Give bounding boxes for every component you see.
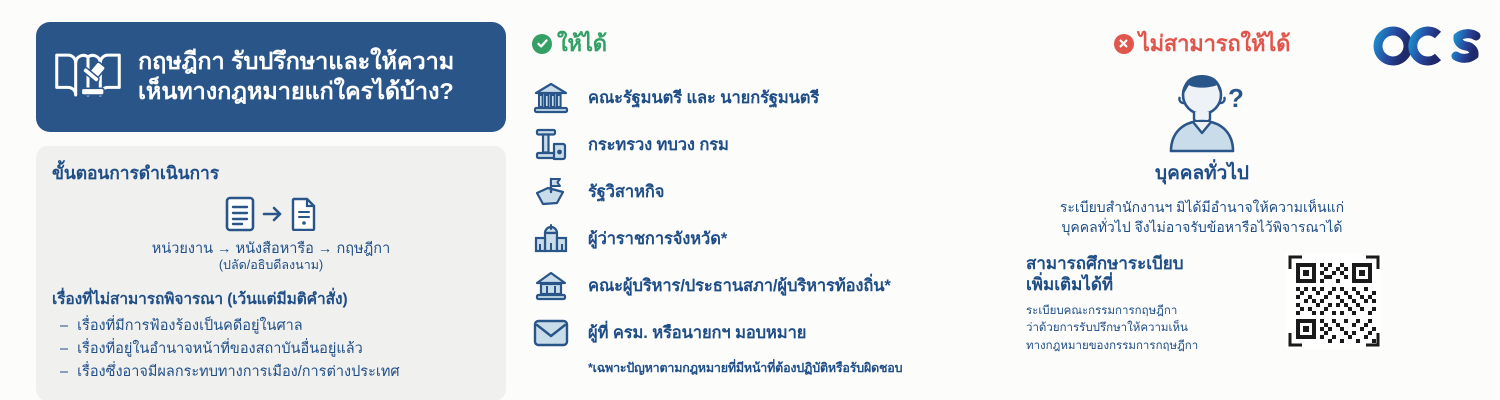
study-more-text: สามารถศึกษาระเบียบ เพิ่มเติมได้ที่ ระเบี… <box>1022 253 1272 355</box>
arrow-right-icon <box>262 205 284 228</box>
cannot-desc-line2: บุคคลทั่วไป จึงไม่อาจรับข้อหารือไว้พิจาร… <box>1022 217 1382 237</box>
cannot-desc-line1: ระเบียบสำนักงานฯ มิได้มีอำนาจให้ความเห็น… <box>1022 197 1382 217</box>
header-banner: กฤษฎีกา รับปรึกษาและให้ความ เห็นทางกฎหมา… <box>36 22 506 132</box>
list-item: – เรื่องที่อยู่ในอำนาจหน้าที่ของสถาบันอื… <box>52 338 490 361</box>
list-item: – เรื่องซึ่งอาจมีผลกระทบทางการเมือง/การต… <box>52 361 490 384</box>
book-gavel-icon <box>52 45 124 107</box>
study-sub-line2: ว่าด้วยการรับปรึกษาให้ความเห็น <box>1026 320 1272 337</box>
study-sub-line1: ระเบียบคณะกรรมการกฤษฎีกา <box>1026 303 1272 320</box>
exclusions-title: เรื่องที่ไม่สามารถพิจารณา (เว้นแต่มีมติค… <box>52 286 490 311</box>
local-government-icon <box>532 268 570 304</box>
person-caption: บุคคลทั่วไป <box>1022 158 1382 188</box>
process-flow-caption-sub: (ปลัด/อธิบดีลงนาม) <box>52 258 490 274</box>
can-provide-column: ให้ได้ คณะรัฐมนตรี แล <box>532 26 1032 378</box>
x-circle-icon <box>1114 34 1134 54</box>
document-signed-icon <box>291 197 317 236</box>
cannot-provide-description: ระเบียบสำนักงานฯ มิได้มีอำนาจให้ความเห็น… <box>1022 197 1382 238</box>
ocs-logo <box>1372 25 1482 67</box>
header-title: กฤษฎีกา รับปรึกษาและให้ความ เห็นทางกฎหมา… <box>138 46 454 106</box>
list-item: ผู้ว่าราชการจังหวัด* <box>532 215 1032 262</box>
can-provide-label: ให้ได้ <box>557 26 607 61</box>
header-title-line1: กฤษฎีกา รับปรึกษาและให้ความ <box>138 48 454 74</box>
exclusion-label: เรื่องซึ่งอาจมีผลกระทบทางการเมือง/การต่า… <box>77 361 400 384</box>
study-title-line2: เพิ่มเติมได้ที่ <box>1026 274 1272 295</box>
study-sub-line3: ทางกฎหมายของกรรมการกฤษฎีกา <box>1026 338 1272 355</box>
can-provide-item-label: ผู้ว่าราชการจังหวัด* <box>588 226 727 252</box>
process-flow-icons <box>52 196 490 237</box>
can-provide-item-label: ผู้ที่ ครม. หรือนายกฯ มอบหมาย <box>588 320 806 346</box>
svg-text:?: ? <box>1228 83 1244 113</box>
study-more-subtitle: ระเบียบคณะกรรมการกฤษฎีกา ว่าด้วยการรับปร… <box>1026 303 1272 355</box>
list-item: คณะผู้บริหาร/ประธานสภา/ผู้บริหารท้องถิ่น… <box>532 262 1032 309</box>
bullet-dash: – <box>60 315 68 338</box>
person-question-icon: ? <box>1022 67 1382 155</box>
steps-panel-title: ขั้นตอนการดำเนินการ <box>52 159 490 187</box>
list-item: กระทรวง ทบวง กรม <box>532 121 1032 168</box>
can-provide-list: คณะรัฐมนตรี และ นายกรัฐมนตรี กระทรวง ทบว… <box>532 74 1032 356</box>
cannot-provide-heading: ไม่สามารถให้ได้ <box>1022 26 1382 61</box>
qr-code-icon[interactable] <box>1286 253 1382 349</box>
check-circle-icon <box>532 34 552 54</box>
document-lines-icon <box>225 196 255 237</box>
ministry-pillar-icon <box>532 127 570 163</box>
flag-land-icon <box>532 174 570 210</box>
bullet-dash: – <box>60 361 68 384</box>
provincial-hall-icon <box>532 221 570 257</box>
list-item: – เรื่องที่มีการฟ้องร้องเป็นคดีอยู่ในศาล <box>52 315 490 338</box>
envelope-icon <box>532 315 570 351</box>
infographic-canvas: กฤษฎีกา รับปรึกษาและให้ความ เห็นทางกฎหมา… <box>0 0 1500 400</box>
list-item: คณะรัฐมนตรี และ นายกรัฐมนตรี <box>532 74 1032 121</box>
study-more-title: สามารถศึกษาระเบียบ เพิ่มเติมได้ที่ <box>1026 253 1272 296</box>
can-provide-item-label: กระทรวง ทบวง กรม <box>588 132 729 158</box>
exclusion-label: เรื่องที่อยู่ในอำนาจหน้าที่ของสถาบันอื่น… <box>77 338 363 361</box>
list-item: ผู้ที่ ครม. หรือนายกฯ มอบหมาย <box>532 309 1032 356</box>
can-provide-heading: ให้ได้ <box>532 26 1032 61</box>
cannot-provide-label: ไม่สามารถให้ได้ <box>1139 26 1291 61</box>
can-provide-item-label: คณะผู้บริหาร/ประธานสภา/ผู้บริหารท้องถิ่น… <box>588 273 891 299</box>
study-title-line1: สามารถศึกษาระเบียบ <box>1026 253 1272 274</box>
study-more-block: สามารถศึกษาระเบียบ เพิ่มเติมได้ที่ ระเบี… <box>1022 253 1382 355</box>
header-title-line2: เห็นทางกฎหมายแก่ใครได้บ้าง? <box>138 76 454 106</box>
process-flow: หน่วยงาน → หนังสือหารือ → กฤษฎีกา (ปลัด/… <box>52 196 490 274</box>
cannot-provide-column: ไม่สามารถให้ได้ ? บุคคลทั่วไป ระเบียบสำน… <box>1022 26 1382 355</box>
can-provide-footnote: *เฉพาะปัญหาตามกฎหมายที่มีหน้าที่ต้องปฏิบ… <box>588 358 1032 378</box>
process-flow-caption: หน่วยงาน → หนังสือหารือ → กฤษฎีกา <box>52 240 490 258</box>
list-item: รัฐวิสาหกิจ <box>532 168 1032 215</box>
exclusion-label: เรื่องที่มีการฟ้องร้องเป็นคดีอยู่ในศาล <box>77 315 303 338</box>
can-provide-item-label: รัฐวิสาหกิจ <box>588 179 664 205</box>
parliament-building-icon <box>532 80 570 116</box>
steps-panel: ขั้นตอนการดำเนินการ <box>36 146 506 400</box>
bullet-dash: – <box>60 338 68 361</box>
can-provide-item-label: คณะรัฐมนตรี และ นายกรัฐมนตรี <box>588 85 819 111</box>
exclusions-list: – เรื่องที่มีการฟ้องร้องเป็นคดีอยู่ในศาล… <box>52 315 490 384</box>
left-column: กฤษฎีกา รับปรึกษาและให้ความ เห็นทางกฎหมา… <box>36 22 506 400</box>
